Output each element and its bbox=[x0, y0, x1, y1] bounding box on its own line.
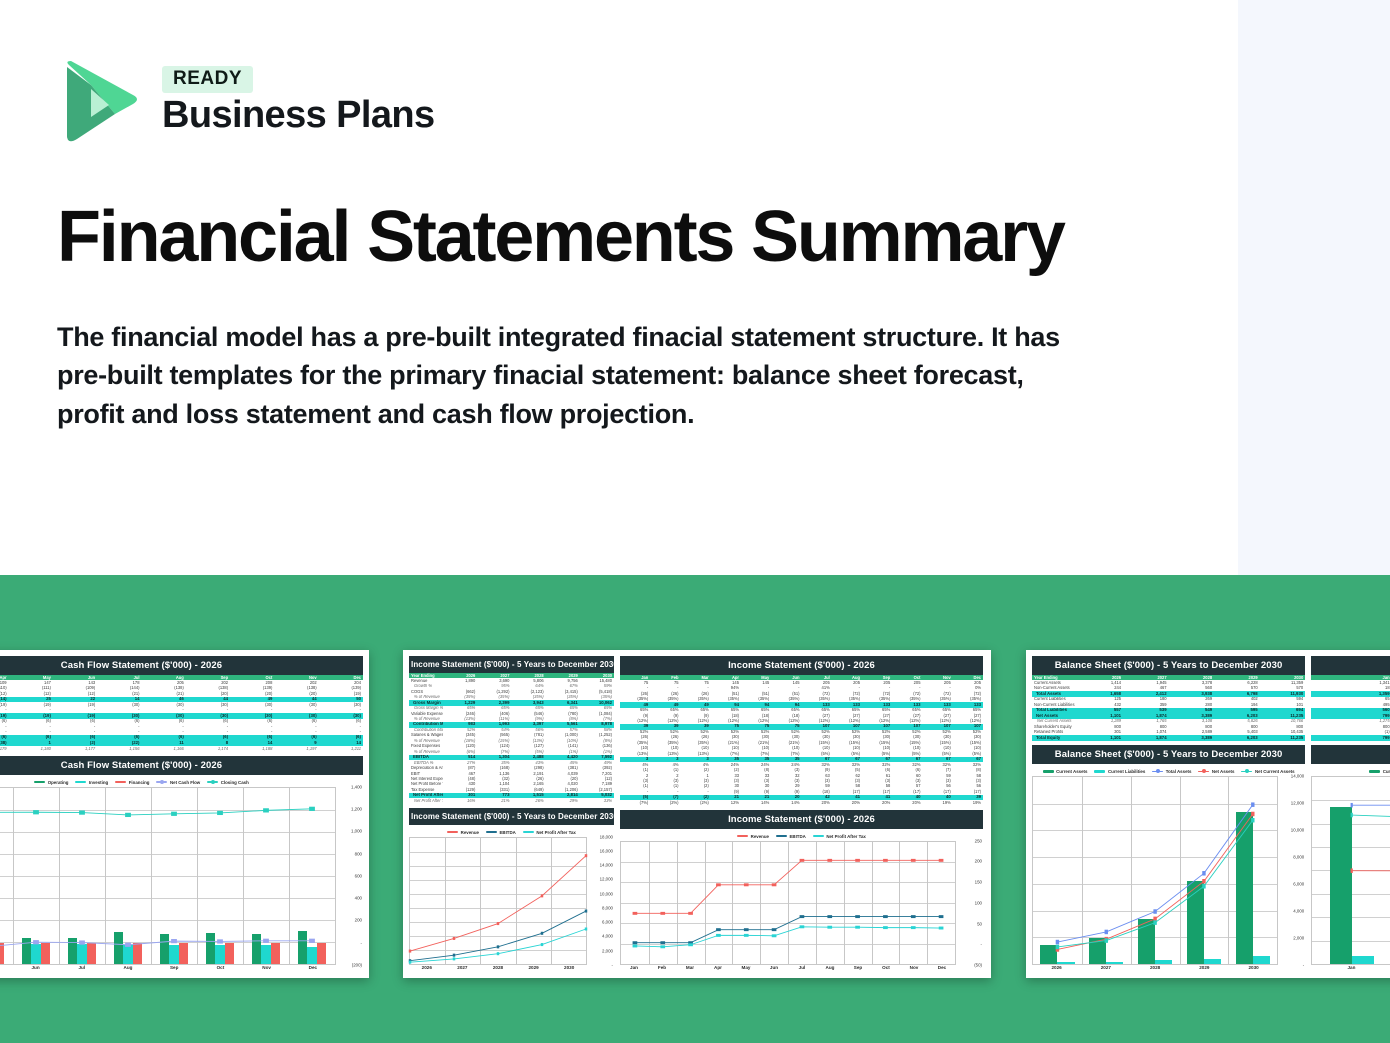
legend-swatch bbox=[1043, 770, 1054, 773]
y-tick-label: 2,000 bbox=[1293, 935, 1304, 940]
x-tick-label: Dec bbox=[290, 965, 336, 970]
legend-item: Current Liabilities bbox=[1094, 769, 1145, 774]
y-tick-label: (200) bbox=[352, 963, 362, 968]
income5yr-chart[interactable]: RevenueEBITDANet Profit After Tax 18,000… bbox=[409, 825, 614, 970]
page-description: The financial model has a pre-built inte… bbox=[57, 318, 1087, 433]
y-tick-label: 12,000 bbox=[1291, 800, 1304, 805]
legend-item: Revenue bbox=[447, 830, 479, 835]
x-tick-label: Sep bbox=[151, 965, 197, 970]
incomemonthly-x-axis: JanFebMarAprMayJunJulAugSepOctNovDec bbox=[620, 965, 983, 970]
chart-series-lines bbox=[0, 788, 335, 964]
incomemonthly-chart-legend: RevenueEBITDANet Profit After Tax bbox=[620, 831, 983, 841]
y-tick-label: 10,000 bbox=[600, 891, 613, 896]
x-tick-label: Aug bbox=[816, 965, 844, 970]
legend-label: Revenue bbox=[751, 834, 769, 839]
x-tick-label: Jul bbox=[788, 965, 816, 970]
y-tick-label: 2,000 bbox=[602, 948, 613, 953]
y-tick-label: 4,000 bbox=[602, 934, 613, 939]
y-tick-label: 200 bbox=[355, 918, 362, 923]
y-tick-label: 1,400 bbox=[351, 784, 362, 789]
balancemonthly-chart-title bbox=[1311, 745, 1390, 764]
x-tick-label: May bbox=[732, 965, 760, 970]
y-tick-label: 1,200 bbox=[351, 806, 362, 811]
x-tick-label: Jun bbox=[12, 965, 58, 970]
x-tick-label: 2028 bbox=[1131, 965, 1180, 970]
legend-label: Net Cash Flow bbox=[170, 780, 200, 785]
income5yr-x-axis: 20262027202820292030 bbox=[409, 965, 614, 970]
y-tick-label: 12,000 bbox=[600, 877, 613, 882]
y-tick-label: 1,000 bbox=[351, 829, 362, 834]
y-tick-label: 8,000 bbox=[602, 905, 613, 910]
y-tick-label: 600 bbox=[355, 873, 362, 878]
legend-label: Net Current Assets bbox=[1255, 769, 1295, 774]
balancemonthly-plot-area bbox=[1311, 776, 1390, 965]
brand-logo[interactable]: READY Business Plans bbox=[57, 57, 435, 145]
chart-series-lines bbox=[410, 838, 586, 964]
y-tick-label: - bbox=[361, 940, 362, 945]
legend-swatch bbox=[1369, 770, 1380, 773]
cashflow-screenshot-card[interactable]: Cash Flow Statement ($'000) - 2026 AprMa… bbox=[0, 650, 369, 978]
chart-series-lines bbox=[1312, 777, 1390, 964]
legend-label: Financing bbox=[129, 780, 150, 785]
y-tick-label: 800 bbox=[355, 851, 362, 856]
legend-label: Net Profit After Tax bbox=[826, 834, 866, 839]
legend-swatch bbox=[776, 835, 787, 838]
legend-item: Net Assets bbox=[1198, 769, 1234, 774]
income5yr-chart-legend: RevenueEBITDANet Profit After Tax bbox=[409, 827, 614, 837]
x-tick-label: Sep bbox=[844, 965, 872, 970]
x-tick-label: 2030 bbox=[1229, 965, 1278, 970]
legend-label: Current Liabilities bbox=[1108, 769, 1145, 774]
incomemonthly-chart-title: Income Statement ($'000) - 2026 bbox=[620, 810, 983, 829]
legend-swatch bbox=[486, 831, 497, 834]
ready-badge: READY bbox=[162, 66, 253, 93]
legend-item: Total Assets bbox=[1152, 769, 1191, 774]
legend-label: Revenue bbox=[461, 830, 479, 835]
cashflow-chart[interactable]: OperatingInvestingFinancingNet Cash Flow… bbox=[0, 775, 363, 970]
balancemonthly-table[interactable]: JanFeb1,3411,32318361,3591,3596572495489… bbox=[1311, 675, 1390, 741]
legend-swatch bbox=[737, 835, 748, 838]
legend-label: Net Profit After Tax bbox=[536, 830, 576, 835]
x-tick-label: 2029 bbox=[516, 965, 552, 970]
x-tick-label: Jan bbox=[620, 965, 648, 970]
x-tick-label: Oct bbox=[872, 965, 900, 970]
y-tick-label: 150 bbox=[975, 880, 982, 885]
x-tick-label: Jul bbox=[59, 965, 105, 970]
balance-screenshot-card[interactable]: Balance Sheet ($'000) - 5 Years to Decem… bbox=[1026, 650, 1390, 978]
x-tick-label: 2027 bbox=[445, 965, 481, 970]
x-tick-label: Jan bbox=[1311, 965, 1390, 970]
x-tick-label: Apr bbox=[704, 965, 732, 970]
x-tick-label: Aug bbox=[105, 965, 151, 970]
income-screenshot-card[interactable]: Income Statement ($'000) - 5 Years to De… bbox=[403, 650, 991, 978]
y-tick-label: 6,000 bbox=[602, 920, 613, 925]
x-tick-label: Oct bbox=[197, 965, 243, 970]
cashflow-plot-area bbox=[0, 787, 336, 965]
incomemonthly-chart[interactable]: RevenueEBITDANet Profit After Tax 250200… bbox=[620, 829, 983, 970]
income5yr-table-title: Income Statement ($'000) - 5 Years to De… bbox=[409, 656, 614, 673]
y-tick-label: 6,000 bbox=[1293, 881, 1304, 886]
cashflow-y-axis: 1,4001,2001,000800600400200-(200) bbox=[336, 787, 363, 965]
legend-item: EBITDA bbox=[486, 830, 516, 835]
y-tick-label: 14,000 bbox=[600, 863, 613, 868]
legend-item: Net Cash Flow bbox=[156, 780, 200, 785]
y-tick-label: 50 bbox=[977, 921, 982, 926]
hero-section: READY Business Plans Financial Statement… bbox=[0, 0, 1238, 575]
incomemonthly-plot-area bbox=[620, 841, 956, 965]
y-tick-label: - bbox=[981, 942, 982, 947]
incomemonthly-table-title: Income Statement ($'000) - 2026 bbox=[620, 656, 983, 675]
y-tick-label: 14,000 bbox=[1291, 773, 1304, 778]
legend-swatch bbox=[813, 835, 824, 838]
legend-item: Current Assets bbox=[1369, 769, 1390, 774]
balance5yr-chart-legend: Current AssetsCurrent LiabilitiesTotal A… bbox=[1032, 766, 1305, 776]
y-tick-label: - bbox=[612, 963, 613, 968]
x-tick-label: Nov bbox=[900, 965, 928, 970]
legend-label: EBITDA bbox=[499, 830, 515, 835]
x-tick-label: 2030 bbox=[551, 965, 587, 970]
legend-item: Net Current Assets bbox=[1241, 769, 1294, 774]
balance5yr-table-title: Balance Sheet ($'000) - 5 Years to Decem… bbox=[1032, 656, 1305, 675]
balance5yr-chart-title: Balance Sheet ($'000) - 5 Years to Decem… bbox=[1032, 745, 1305, 764]
y-tick-label: 10,000 bbox=[1291, 827, 1304, 832]
cashflow-table-title: Cash Flow Statement ($'000) - 2026 bbox=[0, 656, 363, 675]
y-tick-label: 18,000 bbox=[600, 834, 613, 839]
legend-swatch bbox=[156, 781, 167, 783]
y-tick-label: 100 bbox=[975, 900, 982, 905]
legend-swatch bbox=[115, 781, 126, 784]
x-tick-label: 2027 bbox=[1081, 965, 1130, 970]
x-tick-label: 2026 bbox=[409, 965, 445, 970]
play-triangle-logo-icon bbox=[57, 57, 145, 145]
legend-item: Investing bbox=[75, 780, 108, 785]
y-tick-label: 8,000 bbox=[1293, 854, 1304, 859]
income5yr-table[interactable]: Year Ending20262027202820292030Revenue1,… bbox=[409, 673, 614, 804]
legend-item: Closing Cash bbox=[207, 780, 249, 785]
cashflow-table[interactable]: AprMayJunJulAugSepOctNovDec7910914714317… bbox=[0, 675, 363, 752]
incomemonthly-table[interactable]: JanFebMarAprMayJunJulAugSepOctNovDec7575… bbox=[620, 675, 983, 806]
income5yr-y-axis: 18,00016,00014,00012,00010,0008,0006,000… bbox=[587, 837, 614, 965]
cashflow-chart-title: Cash Flow Statement ($'000) - 2026 bbox=[0, 756, 363, 775]
chart-series-lines bbox=[1033, 777, 1277, 964]
legend-item: Financing bbox=[115, 780, 149, 785]
chart-series-lines bbox=[621, 842, 955, 964]
balancemonthly-table-title bbox=[1311, 656, 1390, 675]
legend-item: EBITDA bbox=[776, 834, 806, 839]
x-tick-label: Dec bbox=[928, 965, 956, 970]
legend-label: Investing bbox=[89, 780, 108, 785]
legend-label: Total Assets bbox=[1166, 769, 1192, 774]
hero-side-panel bbox=[1238, 0, 1390, 575]
balance5yr-y-axis: 14,00012,00010,0008,0006,0004,0002,000- bbox=[1278, 776, 1305, 965]
x-tick-label: 2029 bbox=[1180, 965, 1229, 970]
balancemonthly-chart[interactable]: Current Assets JanFeb bbox=[1311, 764, 1390, 970]
x-tick-label: May bbox=[0, 965, 12, 970]
page-title: Financial Statements Summary bbox=[57, 200, 1064, 276]
legend-swatch bbox=[75, 781, 86, 784]
balance5yr-chart[interactable]: Current AssetsCurrent LiabilitiesTotal A… bbox=[1032, 764, 1305, 970]
legend-label: Closing Cash bbox=[221, 780, 249, 785]
legend-swatch bbox=[523, 831, 534, 834]
legend-item: Net Profit After Tax bbox=[523, 830, 576, 835]
y-tick-label: 200 bbox=[975, 859, 982, 864]
brand-name: Business Plans bbox=[162, 96, 435, 136]
legend-swatch bbox=[1152, 771, 1163, 773]
legend-label: EBITDA bbox=[789, 834, 805, 839]
legend-label: Current Assets bbox=[1056, 769, 1087, 774]
legend-label: Net Assets bbox=[1212, 769, 1235, 774]
balance5yr-x-axis: 20262027202820292030 bbox=[1032, 965, 1305, 970]
legend-swatch bbox=[1241, 771, 1252, 773]
balance5yr-table[interactable]: Year Ending20262027202820292030Current A… bbox=[1032, 675, 1305, 741]
legend-label: Current Assets bbox=[1383, 769, 1390, 774]
legend-item: Net Profit After Tax bbox=[813, 834, 866, 839]
legend-swatch bbox=[34, 781, 45, 784]
x-tick-label: Jun bbox=[760, 965, 788, 970]
legend-item: Current Assets bbox=[1043, 769, 1088, 774]
y-tick-label: (50) bbox=[974, 963, 982, 968]
legend-swatch bbox=[1198, 771, 1209, 773]
x-tick-label: Nov bbox=[244, 965, 290, 970]
legend-item: Operating bbox=[34, 780, 68, 785]
legend-swatch bbox=[1094, 770, 1105, 773]
cashflow-chart-legend: OperatingInvestingFinancingNet Cash Flow… bbox=[0, 777, 363, 787]
x-tick-label: 2028 bbox=[480, 965, 516, 970]
balance5yr-plot-area bbox=[1032, 776, 1278, 965]
legend-swatch bbox=[207, 781, 218, 783]
y-tick-label: - bbox=[1303, 963, 1304, 968]
balancemonthly-chart-legend: Current Assets bbox=[1311, 766, 1390, 776]
cashflow-x-axis: AprMayJunJulAugSepOctNovDec bbox=[0, 965, 363, 970]
x-tick-label: Feb bbox=[648, 965, 676, 970]
x-tick-label: Mar bbox=[676, 965, 704, 970]
balancemonthly-x-axis: JanFeb bbox=[1311, 965, 1390, 970]
legend-swatch bbox=[447, 831, 458, 834]
y-tick-label: 16,000 bbox=[600, 848, 613, 853]
income5yr-chart-title: Income Statement ($'000) - 5 Years to De… bbox=[409, 808, 614, 825]
legend-label: Operating bbox=[48, 780, 69, 785]
y-tick-label: 250 bbox=[975, 838, 982, 843]
y-tick-label: 400 bbox=[355, 896, 362, 901]
y-tick-label: 4,000 bbox=[1293, 908, 1304, 913]
legend-item: Revenue bbox=[737, 834, 769, 839]
income5yr-plot-area bbox=[409, 837, 587, 965]
incomemonthly-y-axis: 25020015010050-(50) bbox=[956, 841, 983, 965]
x-tick-label: 2026 bbox=[1032, 965, 1081, 970]
